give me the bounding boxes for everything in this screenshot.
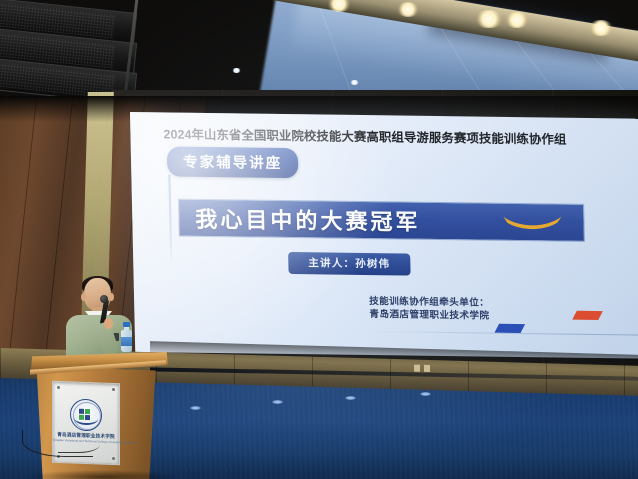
speaker-array [0, 0, 144, 104]
water-bottle [121, 322, 132, 352]
plate-screw [112, 457, 115, 460]
floor-reflection [190, 406, 201, 410]
decoration-blue-parallelogram [495, 324, 526, 333]
slide-organizer-block: 技能训练协作组牵头单位： 青岛酒店管理职业技术学院 [369, 295, 490, 323]
microphone-head-icon [100, 295, 108, 303]
plate-screw [57, 386, 60, 389]
presenter-ear [109, 293, 114, 301]
ceiling-downlight [350, 80, 359, 85]
baseboard-outlet [424, 365, 430, 372]
slide-title-text: 我心目中的大赛冠军 [195, 202, 421, 237]
slide-header-text: 2024年山东省全国职业院校技能大赛高职组导游服务赛项技能训练协作组 [163, 124, 637, 148]
spotlight [396, 2, 420, 17]
floor-reflection [345, 396, 356, 400]
bottle-label [121, 337, 132, 346]
baseboard-outlet [414, 365, 420, 372]
presenter-ear [81, 293, 86, 301]
presentation-slide: 2024年山东省全国职业院校技能大赛高职组导游服务赛项技能训练协作组 专家辅导讲… [130, 112, 638, 359]
slide-badge: 专家辅导讲座 [167, 146, 299, 178]
school-crest-icon [70, 398, 102, 431]
podium-shadow [28, 470, 178, 479]
floor-reflection [272, 400, 283, 404]
lecture-hall-photo: 2024年山东省全国职业院校技能大赛高职组导游服务赛项技能训练协作组 专家辅导讲… [0, 0, 638, 479]
presenter-hand [104, 318, 113, 329]
plate-screw [112, 388, 115, 391]
ceiling-downlight [232, 68, 241, 73]
slide-accent-line [168, 174, 172, 262]
slide-speaker-chip: 主讲人：孙树伟 [288, 252, 410, 276]
floor-reflection [420, 392, 431, 396]
spotlight [588, 20, 614, 36]
slide-title-banner: 我心目中的大赛冠军 [178, 199, 585, 242]
organizer-line-2: 青岛酒店管理职业技术学院 [369, 308, 489, 323]
presenter [58, 278, 156, 360]
spotlight [504, 12, 530, 28]
projection-screen: 2024年山东省全国职业院校技能大赛高职组导游服务赛项技能训练协作组 专家辅导讲… [130, 112, 638, 359]
spotlight [474, 10, 504, 28]
decoration-red-parallelogram [572, 311, 603, 320]
floor-cable [58, 436, 100, 453]
swoosh-icon [501, 214, 563, 231]
podium: 青岛酒店管理职业技术学院 Qingdao Vocational and Tech… [28, 352, 168, 479]
